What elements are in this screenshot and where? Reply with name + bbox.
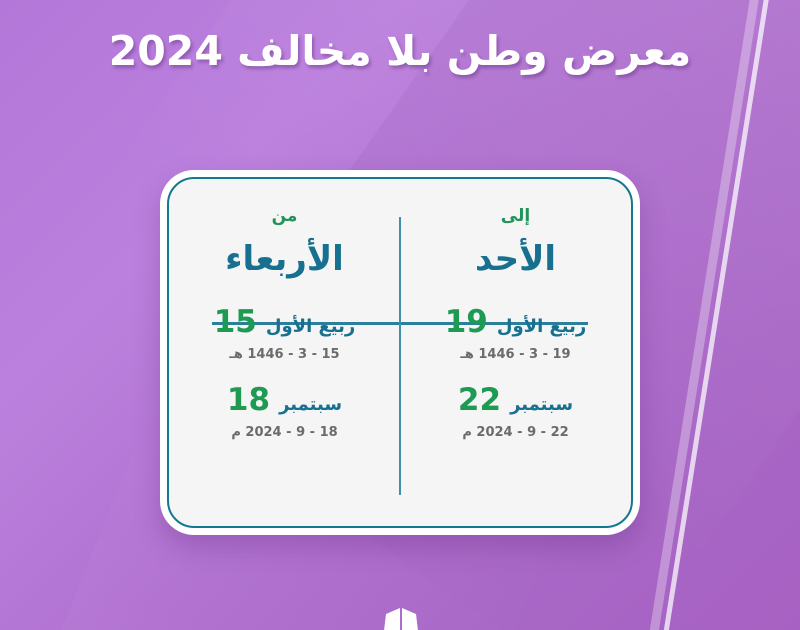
- column-label-from: من: [272, 208, 298, 225]
- right-stripe-wide: [625, 0, 784, 630]
- day-name-from: الأربعاء: [225, 242, 344, 276]
- hijri-day-from: 15: [214, 307, 257, 338]
- gregorian-day-from: 18: [227, 385, 270, 416]
- hijri-date-from: ربيع الأول 15 15 - 3 - 1446 هـ: [214, 307, 356, 361]
- column-label-to: إلى: [501, 208, 530, 225]
- hijri-month-from: ربيع الأول: [266, 318, 355, 336]
- gregorian-numeric-to: 22 - 9 - 2024 م: [462, 426, 568, 439]
- right-stripe-thin: [639, 0, 794, 630]
- gregorian-date-main-from: سبتمبر 18: [227, 385, 342, 416]
- gregorian-date-from: سبتمبر 18 18 - 9 - 2024 م: [227, 385, 342, 439]
- hijri-numeric-to: 19 - 3 - 1446 هـ: [460, 348, 570, 361]
- gregorian-date-to: سبتمبر 22 22 - 9 - 2024 م: [458, 385, 573, 439]
- date-column-to: إلى الأحد ربيع الأول 19 19 - 3 - 1446 هـ…: [400, 179, 631, 526]
- gregorian-month-to: سبتمبر: [510, 396, 573, 414]
- day-name-to: الأحد: [475, 242, 556, 276]
- page-title: معرض وطن بلا مخالف 2024: [0, 26, 800, 77]
- hijri-day-to: 19: [445, 307, 488, 338]
- event-dates-card: إلى الأحد ربيع الأول 19 19 - 3 - 1446 هـ…: [160, 170, 640, 535]
- event-dates-card-inner: إلى الأحد ربيع الأول 19 19 - 3 - 1446 هـ…: [167, 177, 633, 528]
- gregorian-day-to: 22: [458, 385, 501, 416]
- poster-canvas: معرض وطن بلا مخالف 2024 إلى الأحد ربيع ا…: [0, 0, 800, 630]
- gregorian-month-from: سبتمبر: [279, 396, 342, 414]
- hijri-month-to: ربيع الأول: [497, 318, 586, 336]
- hijri-date-main-from: ربيع الأول 15: [214, 307, 356, 338]
- date-columns: إلى الأحد ربيع الأول 19 19 - 3 - 1446 هـ…: [169, 179, 631, 526]
- hijri-date-main-to: ربيع الأول 19: [445, 307, 587, 338]
- hijri-date-to: ربيع الأول 19 19 - 3 - 1446 هـ: [445, 307, 587, 361]
- gregorian-date-main-to: سبتمبر 22: [458, 385, 573, 416]
- fan-petal-logo-icon: [350, 586, 454, 630]
- date-column-from: من الأربعاء ربيع الأول 15 15 - 3 - 1446 …: [169, 179, 400, 526]
- hijri-numeric-from: 15 - 3 - 1446 هـ: [229, 348, 339, 361]
- gregorian-numeric-from: 18 - 9 - 2024 م: [231, 426, 337, 439]
